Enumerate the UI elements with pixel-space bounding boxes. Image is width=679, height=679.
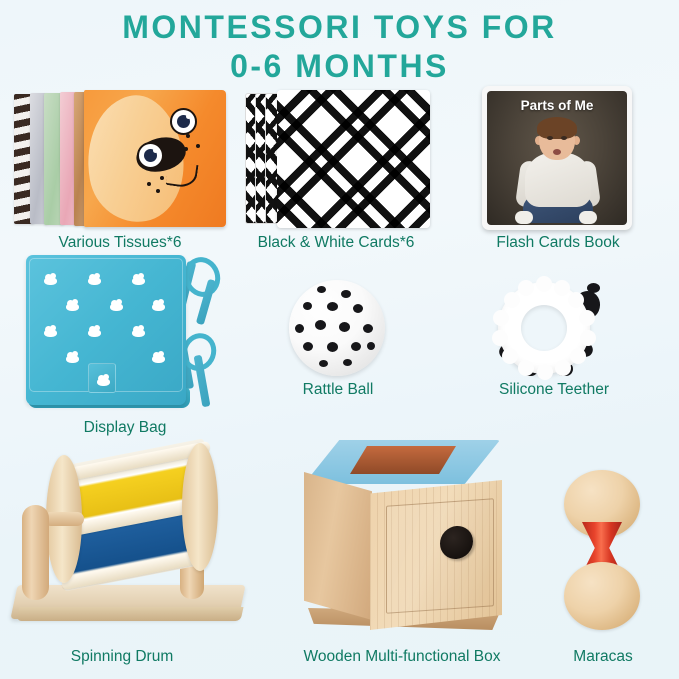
bag-cloud-motif [152, 355, 165, 363]
rattle-dot [327, 302, 338, 311]
sheep-ear [587, 283, 600, 293]
rattle-ball-body [289, 280, 385, 376]
lion-mouth [165, 161, 198, 189]
caption-various-tissues: Various Tissues*6 [10, 234, 230, 252]
caption-silicone-teether: Silicone Teether [474, 381, 634, 399]
rattle-dot [351, 342, 361, 351]
rattle-dot [303, 302, 312, 310]
bw-diamond-pattern [277, 90, 430, 228]
bag-cloud-motif [44, 329, 57, 337]
bw-card-front [277, 90, 430, 228]
baby-eye-right [561, 136, 567, 140]
rattle-dot [341, 290, 351, 298]
rattle-dot [339, 322, 350, 332]
rattle-dot [319, 360, 328, 367]
product-image-silicone-teether [494, 280, 604, 376]
baby-mouth [553, 149, 561, 155]
rattle-dot [303, 342, 313, 351]
product-image-rattle-ball [289, 280, 385, 376]
box-side-panel [304, 472, 372, 620]
bag-cloud-motif [88, 329, 101, 337]
lion-freckle [186, 134, 190, 138]
caption-wooden-box: Wooden Multi-functional Box [272, 648, 532, 666]
lion-freckle [160, 176, 164, 180]
product-image-spinning-drum [14, 445, 254, 640]
bag-cloud-motif [66, 355, 79, 363]
lion-freckle [147, 182, 151, 186]
baby-foot-right [579, 211, 597, 224]
rattle-dot [327, 342, 338, 352]
baby-eye-left [547, 136, 553, 140]
page-title-line2: 0-6 Months [0, 47, 679, 86]
product-image-maracas [560, 470, 644, 630]
flash-card-title: Parts of Me [487, 98, 627, 113]
caption-maracas: Maracas [542, 648, 664, 666]
rattle-dot [343, 359, 352, 366]
product-image-black-white-cards [245, 90, 430, 228]
lion-freckle [156, 189, 160, 193]
drum-axle [44, 512, 84, 526]
baby-foot-left [515, 211, 533, 224]
bag-cloud-motif [110, 303, 123, 311]
maraca-head-bottom [564, 562, 640, 630]
lion-eye-glint [153, 148, 158, 153]
product-image-flash-cards-book: Parts of Me [482, 86, 632, 230]
caption-display-bag: Display Bag [0, 419, 250, 437]
cloth-book-lion-cover [84, 90, 226, 227]
flash-card-photo: Parts of Me [487, 91, 627, 225]
bag-closure-tab [88, 363, 116, 393]
box-front-drawer [386, 498, 494, 614]
lion-freckle [196, 144, 200, 148]
bag-cloud-motif [88, 277, 101, 285]
bag-cloud-motif [152, 303, 165, 311]
product-image-wooden-box [292, 440, 514, 640]
drum-disc-right [182, 443, 218, 571]
bag-cloud-motif [132, 277, 145, 285]
flash-card: Parts of Me [482, 86, 632, 230]
caption-spinning-drum: Spinning Drum [6, 648, 238, 666]
bag-cloud-motif [132, 329, 145, 337]
drum-support-post-left [22, 505, 49, 600]
rattle-dot [363, 324, 373, 333]
rattle-dot [317, 286, 326, 293]
lion-freckle [184, 147, 188, 151]
lion-eye-right [170, 108, 197, 135]
caption-rattle-ball: Rattle Ball [278, 381, 398, 399]
cloth-book-stack [14, 88, 226, 228]
caption-black-white-cards: Black & White Cards*6 [236, 234, 436, 252]
drum-base-edge [17, 607, 244, 621]
lion-eye-glint [186, 114, 191, 119]
bag-cloud-motif [44, 277, 57, 285]
baby-hair [537, 117, 577, 139]
product-image-display-bag [26, 255, 241, 410]
rattle-dot [315, 320, 326, 330]
bag-cloud-motif [97, 378, 110, 386]
page-title-line1: Montessori Toys For [122, 9, 557, 45]
box-top-opening [350, 446, 456, 474]
rattle-dot [367, 342, 375, 350]
lion-eye-left [137, 142, 164, 169]
rattle-dot [353, 304, 363, 313]
rattle-dot [295, 324, 304, 333]
product-image-various-tissues [14, 88, 226, 228]
product-infographic: Montessori Toys For 0-6 Months [0, 0, 679, 679]
page-title: Montessori Toys For 0-6 Months [0, 8, 679, 86]
caption-flash-cards-book: Flash Cards Book [472, 234, 644, 252]
bag-cloud-motif [66, 303, 79, 311]
sheep-teether-ring [498, 282, 590, 374]
bag-body [26, 255, 186, 405]
baby-shirt [525, 153, 591, 207]
